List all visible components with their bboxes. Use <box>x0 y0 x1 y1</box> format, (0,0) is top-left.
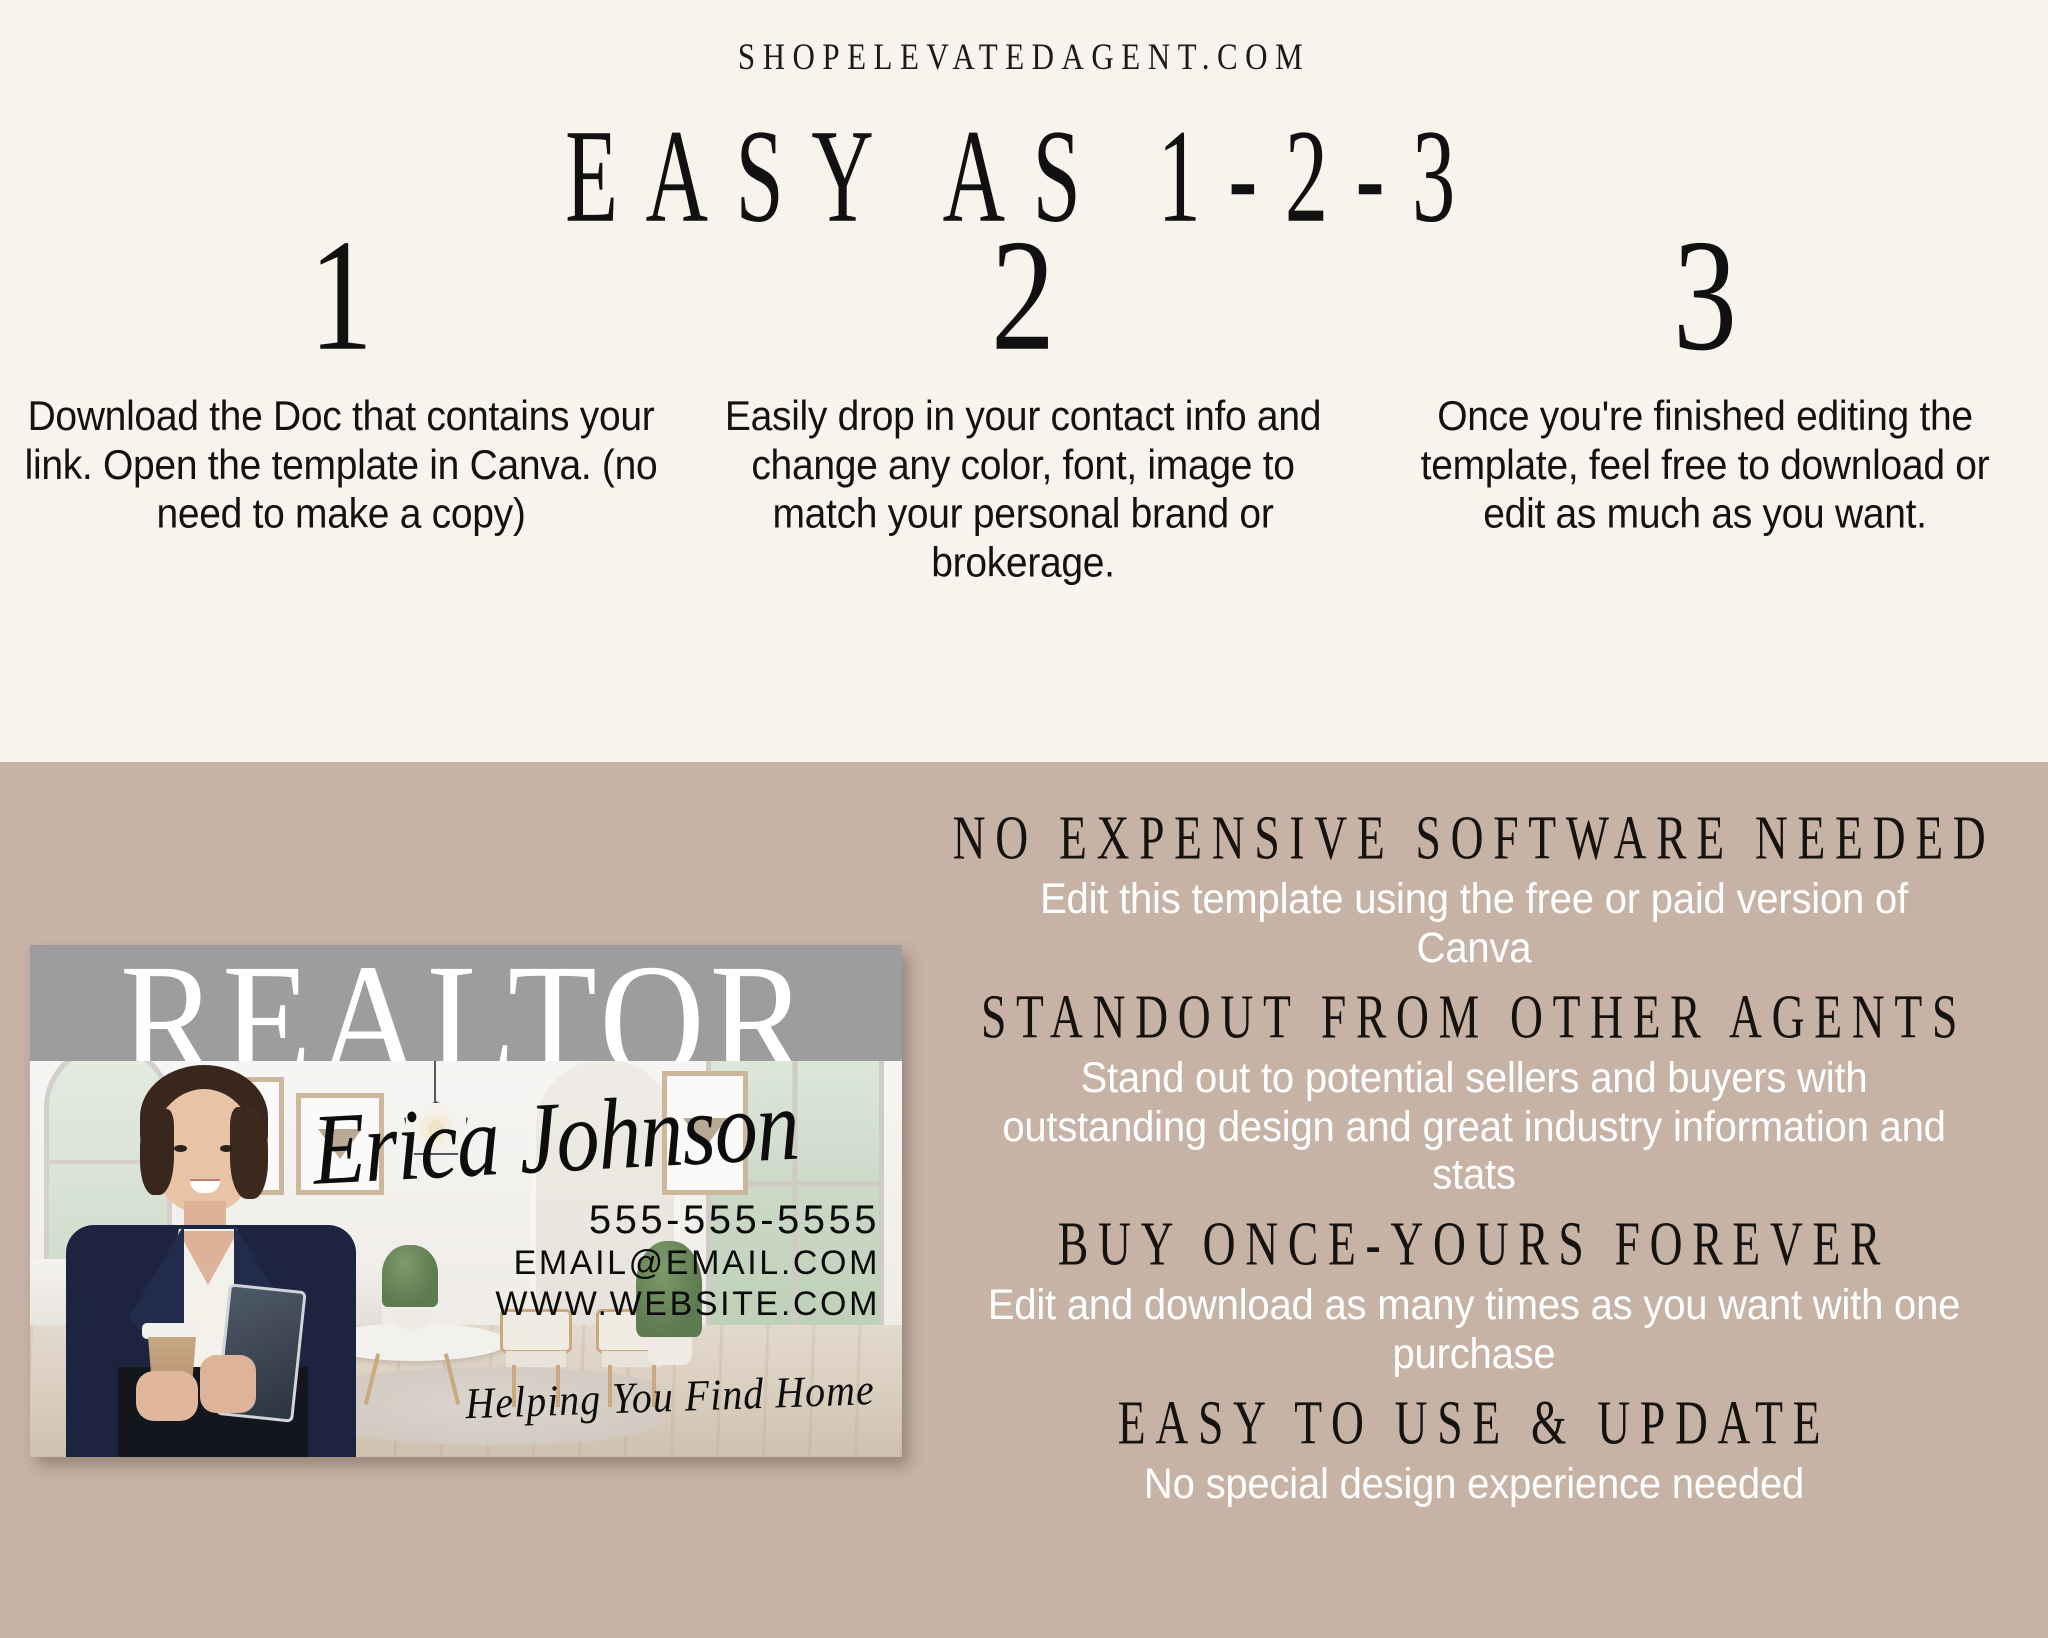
table-legs <box>360 1353 464 1405</box>
features-list: NO EXPENSIVE SOFTWARE NEEDED Edit this t… <box>900 802 2048 1515</box>
feature-item: EASY TO USE & UPDATE No special design e… <box>900 1387 2048 1507</box>
card-contact-block: 555-555-5555 EMAIL@EMAIL.COM WWW.WEBSITE… <box>320 1197 880 1325</box>
top-section: SHOPELEVATEDAGENT.COM EASY AS 1-2-3 1 Do… <box>0 0 2048 762</box>
step-description: Once you're finished editing the templat… <box>1364 393 2046 539</box>
bottom-section: REALTOR Erica Johnson 555-555-5555 EMAIL… <box>0 762 2048 1638</box>
hand <box>136 1371 198 1421</box>
step-number: 1 <box>0 215 682 375</box>
eye <box>174 1145 187 1152</box>
feature-body: Edit this template using the free or pai… <box>900 876 2048 973</box>
step-number: 2 <box>682 215 1364 375</box>
step-number: 3 <box>1364 215 2046 375</box>
feature-body: Stand out to potential sellers and buyer… <box>900 1055 2048 1200</box>
feature-body: Edit and download as many times as you w… <box>900 1282 2048 1379</box>
feature-body: No special design experience needed <box>900 1461 2048 1509</box>
feature-heading: BUY ONCE-YOURS FOREVER <box>917 1208 2031 1280</box>
step-item-3: 3 Once you're finished editing the templ… <box>1364 215 2046 577</box>
coffee-cup-lid <box>142 1323 200 1339</box>
hair-side <box>140 1109 174 1195</box>
business-card-mockup: REALTOR Erica Johnson 555-555-5555 EMAIL… <box>30 945 902 1457</box>
website-url: WWW.WEBSITE.COM <box>320 1284 880 1325</box>
step-description: Download the Doc that contains your link… <box>0 393 682 539</box>
step-item-2: 2 Easily drop in your contact info and c… <box>682 215 1364 577</box>
realtor-banner-text: REALTOR <box>30 945 902 1061</box>
hand <box>200 1355 256 1413</box>
feature-heading: STANDOUT FROM OTHER AGENTS <box>917 981 2031 1053</box>
phone-number: 555-555-5555 <box>320 1197 880 1243</box>
feature-item: NO EXPENSIVE SOFTWARE NEEDED Edit this t… <box>900 802 2048 967</box>
step-description: Easily drop in your contact info and cha… <box>682 393 1364 588</box>
step-item-1: 1 Download the Doc that contains your li… <box>0 215 682 577</box>
feature-heading: EASY TO USE & UPDATE <box>917 1387 2031 1459</box>
email-address: EMAIL@EMAIL.COM <box>320 1243 880 1284</box>
eye <box>220 1145 233 1152</box>
feature-item: BUY ONCE-YOURS FOREVER Edit and download… <box>900 1208 2048 1373</box>
feature-heading: NO EXPENSIVE SOFTWARE NEEDED <box>917 802 2031 874</box>
site-url: SHOPELEVATEDAGENT.COM <box>0 36 2048 78</box>
hair-side <box>230 1107 268 1199</box>
promo-graphic: SHOPELEVATEDAGENT.COM EASY AS 1-2-3 1 Do… <box>0 0 2048 1638</box>
steps-row: 1 Download the Doc that contains your li… <box>0 215 2048 577</box>
feature-item: STANDOUT FROM OTHER AGENTS Stand out to … <box>900 981 2048 1192</box>
realtor-banner: REALTOR <box>30 945 902 1061</box>
